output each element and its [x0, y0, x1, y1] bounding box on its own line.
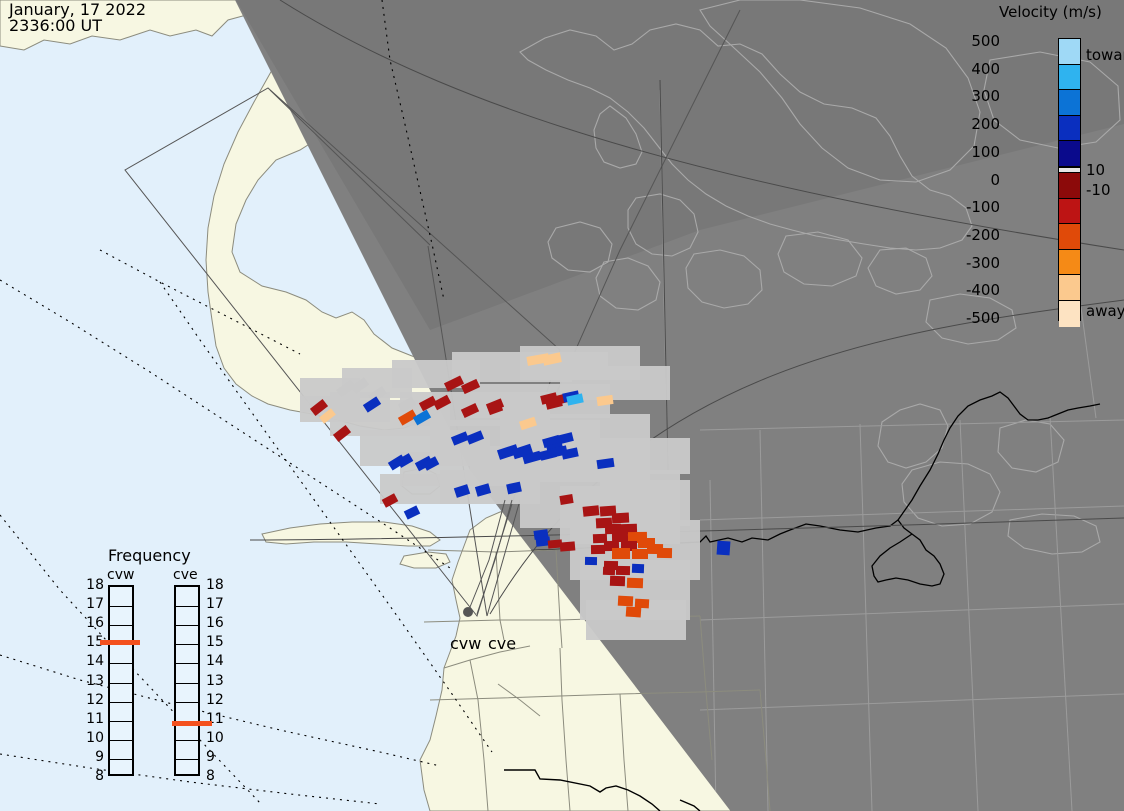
frequency-tick-cvw-9: 9: [86, 749, 104, 765]
frequency-tick-cve-15: 15: [206, 634, 224, 650]
site-label-cvw: cvw: [450, 634, 481, 653]
frequency-tickline: [176, 644, 198, 645]
frequency-tickline: [110, 625, 132, 626]
velocity-cell[interactable]: [560, 541, 576, 551]
colorbar-segment: [1059, 65, 1080, 91]
frequency-tickline: [110, 740, 132, 741]
velocity-cell[interactable]: [635, 599, 649, 609]
velocity-cell[interactable]: [591, 545, 605, 554]
frequency-tick-cve-13: 13: [206, 673, 224, 689]
timestamp-time: 2336:00 UT: [9, 18, 102, 34]
colorbar-tick-0: 0: [990, 171, 1000, 189]
colorbar-away-label: away: [1086, 302, 1124, 320]
frequency-tick-cvw-8: 8: [86, 768, 104, 784]
frequency-tickline: [110, 663, 132, 664]
velocity-cell[interactable]: [583, 505, 600, 517]
colorbar-tick-300: 300: [971, 87, 1000, 105]
frequency-tick-cvw-16: 16: [86, 615, 104, 631]
colorbar-segment: [1059, 250, 1080, 276]
velocity-cell[interactable]: [612, 513, 630, 524]
velocity-cell[interactable]: [632, 564, 644, 573]
superdarn-map-window: January, 17 2022 2336:00 UT Velocity (m/…: [0, 0, 1124, 811]
frequency-tickline: [110, 721, 132, 722]
colorbar-tick-neg100: -100: [966, 198, 1000, 216]
frequency-tick-cvw-12: 12: [86, 692, 104, 708]
frequency-tick-cve-8: 8: [206, 768, 215, 784]
colorbar-toward-label: toward: [1086, 46, 1124, 64]
frequency-tick-cve-18: 18: [206, 577, 224, 593]
frequency-bar-cve[interactable]: [174, 585, 200, 776]
frequency-bar-cvw[interactable]: [108, 585, 134, 776]
velocity-cell[interactable]: [612, 548, 630, 559]
frequency-column-label-cve: cve: [173, 567, 198, 583]
frequency-tickline: [176, 740, 198, 741]
velocity-cell[interactable]: [632, 549, 648, 559]
velocity-cell[interactable]: [717, 541, 731, 556]
velocity-cell[interactable]: [612, 532, 628, 542]
colorbar-tick-neg200: -200: [966, 226, 1000, 244]
colorbar-tick-500: 500: [971, 32, 1000, 50]
velocity-cell[interactable]: [626, 606, 642, 617]
colorbar-segment: [1059, 199, 1080, 225]
colorbar-tick-neg500: -500: [966, 309, 1000, 327]
velocity-cell[interactable]: [627, 578, 643, 589]
frequency-tickline: [176, 702, 198, 703]
colorbar-inner-pos-label: 10: [1086, 161, 1105, 179]
frequency-tick-cvw-17: 17: [86, 596, 104, 612]
frequency-tickline: [110, 759, 132, 760]
velocity-cell[interactable]: [593, 534, 607, 543]
colorbar-tick-400: 400: [971, 60, 1000, 78]
colorbar-tick-neg300: -300: [966, 254, 1000, 272]
site-label-cve: cve: [488, 634, 516, 653]
frequency-tick-cvw-14: 14: [86, 653, 104, 669]
frequency-tick-cvw-13: 13: [86, 673, 104, 689]
velocity-cell[interactable]: [610, 576, 625, 587]
frequency-tickline: [176, 606, 198, 607]
colorbar-inner-neg-label: -10: [1086, 181, 1111, 199]
frequency-column-label-cvw: cvw: [107, 567, 134, 583]
frequency-tickline: [176, 625, 198, 626]
frequency-tickline: [176, 683, 198, 684]
velocity-cell[interactable]: [603, 567, 615, 575]
colorbar-segment: [1059, 116, 1080, 142]
velocity-colorbar: Velocity (m/s) 5004003002001000-100-200-…: [1000, 0, 1124, 340]
frequency-tick-cve-16: 16: [206, 615, 224, 631]
frequency-marker-cve: [172, 721, 212, 726]
frequency-marker-cvw: [100, 640, 140, 645]
velocity-cell[interactable]: [657, 548, 672, 558]
frequency-tickline: [176, 663, 198, 664]
frequency-tick-cvw-18: 18: [86, 577, 104, 593]
colorbar-tick-neg400: -400: [966, 281, 1000, 299]
colorbar-segment: [1059, 90, 1080, 116]
colorbar-segment: [1059, 275, 1080, 301]
frequency-tickline: [110, 683, 132, 684]
velocity-cell[interactable]: [585, 557, 597, 565]
frequency-tick-cve-9: 9: [206, 749, 215, 765]
frequency-tick-cve-10: 10: [206, 730, 224, 746]
colorbar-tick-200: 200: [971, 115, 1000, 133]
frequency-tick-cvw-11: 11: [86, 711, 104, 727]
colorbar-segment: [1059, 39, 1080, 65]
colorbar-segment: [1059, 301, 1080, 327]
colorbar-title: Velocity (m/s): [999, 3, 1102, 21]
colorbar-segment: [1059, 141, 1080, 167]
frequency-tick-cve-14: 14: [206, 653, 224, 669]
frequency-tickline: [110, 702, 132, 703]
colorbar-tick-100: 100: [971, 143, 1000, 161]
frequency-tickline: [176, 759, 198, 760]
frequency-tick-cve-17: 17: [206, 596, 224, 612]
colorbar-strip[interactable]: [1058, 38, 1081, 321]
frequency-legend-title: Frequency: [108, 546, 191, 565]
frequency-tick-cve-12: 12: [206, 692, 224, 708]
frequency-legend: Frequency cvw18171615141312111098cve1817…: [88, 546, 238, 791]
frequency-tick-cvw-10: 10: [86, 730, 104, 746]
velocity-cell[interactable]: [618, 596, 634, 607]
frequency-tickline: [110, 606, 132, 607]
colorbar-segment: [1059, 173, 1080, 199]
velocity-cell[interactable]: [616, 566, 630, 575]
colorbar-segment: [1059, 224, 1080, 250]
